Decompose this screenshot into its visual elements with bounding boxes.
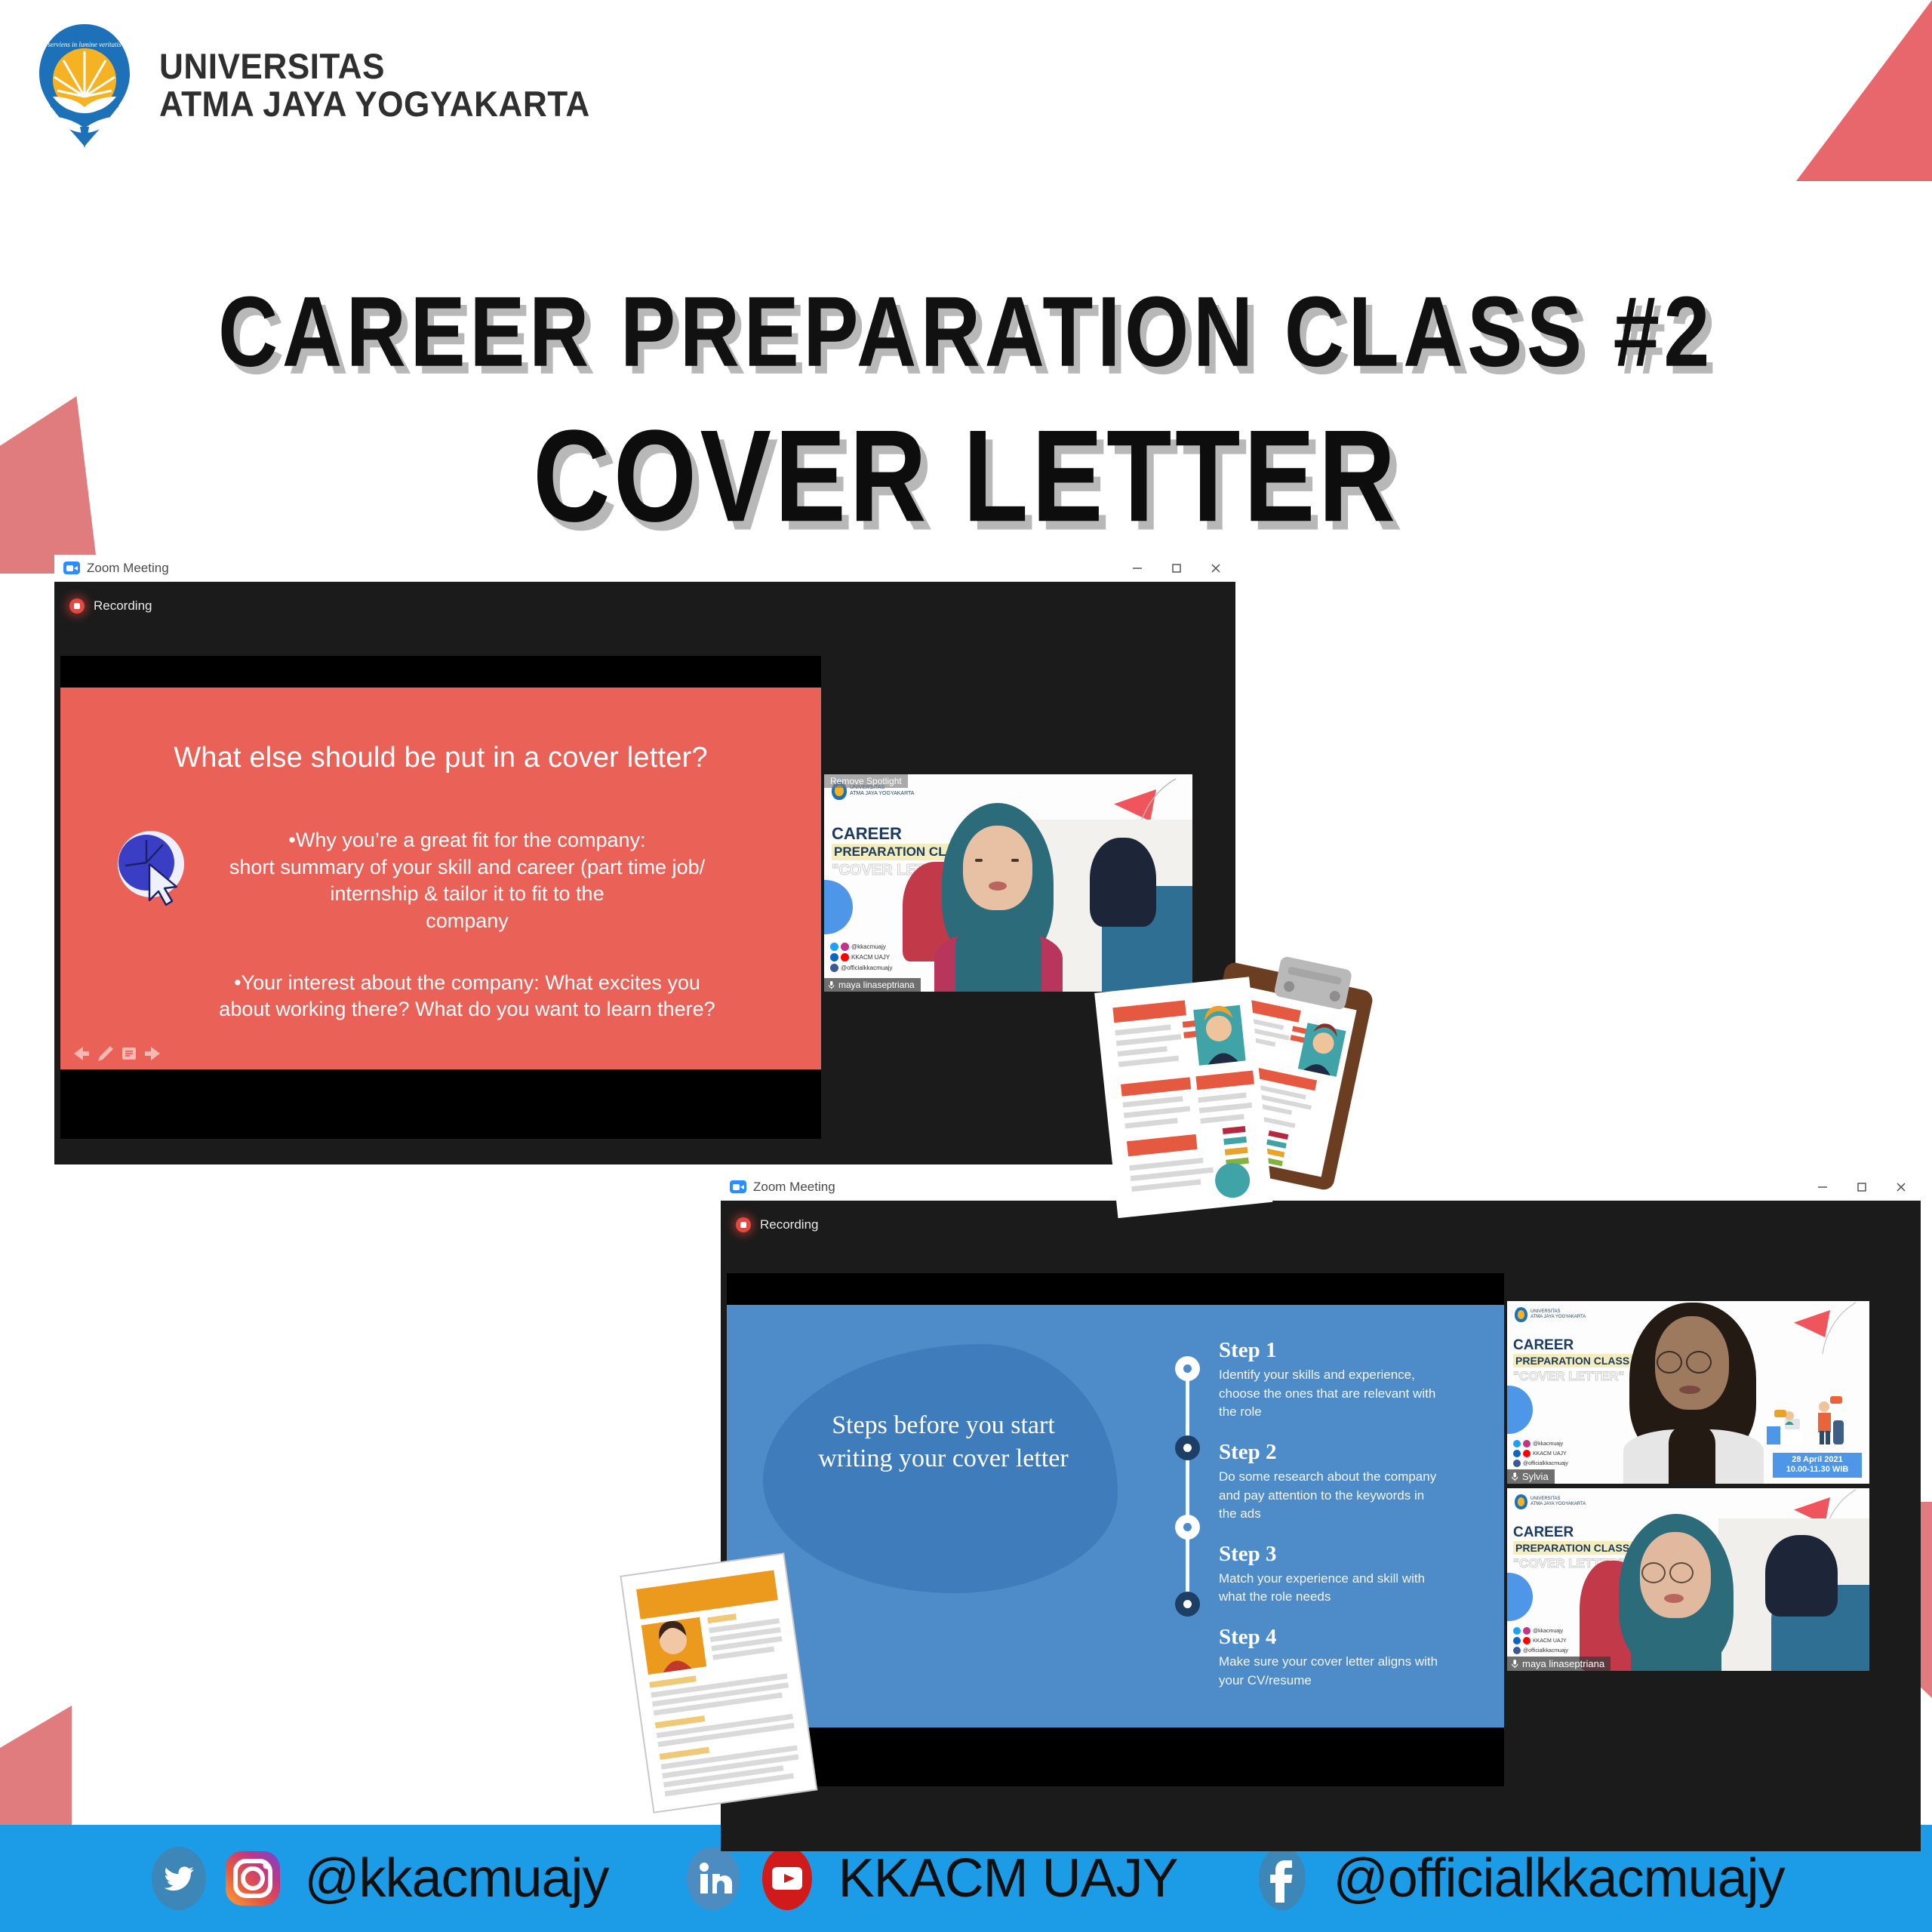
slide-bullet-1: •Why you’re a great fit for the company:…: [143, 827, 791, 935]
close-button[interactable]: [1881, 1174, 1921, 1200]
twitter-icon[interactable]: [147, 1847, 211, 1910]
vbg-org-line2: ATMA JAYA YOGYAKARTA: [850, 791, 914, 797]
list-item: Step 3 Match your experience and skill w…: [1219, 1542, 1445, 1607]
step-description: Do some research about the company and p…: [1219, 1468, 1445, 1524]
participant-name-chip: Sylvia: [1507, 1469, 1555, 1484]
timeline-node-1: [1175, 1356, 1200, 1381]
participant-tile-sylvia[interactable]: UNIVERSITAS ATMA JAYA YOGYAKARTA CAREER …: [1507, 1301, 1869, 1484]
resume-document-icon: [615, 1551, 857, 1830]
remove-spotlight-label: Remove Spotlight: [830, 776, 902, 786]
close-button[interactable]: [1196, 555, 1235, 581]
vbg-handle-1: @kkacmuajy: [1533, 1441, 1563, 1447]
youtube-icon[interactable]: [755, 1847, 819, 1910]
vbg-career-text: CAREER: [1513, 1524, 1574, 1541]
zoom-window-1[interactable]: Zoom Meeting Recording What else should …: [54, 555, 1235, 1164]
footer-handle-facebook: @officialkkacmuajy: [1334, 1847, 1785, 1909]
linkedin-icon[interactable]: [681, 1847, 745, 1910]
pen-annotate-icon[interactable]: [95, 1044, 115, 1063]
slide-heading: Steps before you start writing your cove…: [796, 1409, 1091, 1475]
step-description: Match your experience and skill with wha…: [1219, 1570, 1445, 1607]
vbg-handle-2: KKACM UAJY: [1533, 1638, 1567, 1644]
instagram-icon[interactable]: [221, 1847, 285, 1910]
facebook-icon[interactable]: [1251, 1847, 1314, 1910]
footer-group-facebook: @officialkkacmuajy: [1251, 1847, 1785, 1910]
steps-list: Step 1 Identify your skills and experien…: [1219, 1338, 1445, 1708]
window-title: Zoom Meeting: [87, 561, 169, 576]
atma-jaya-crest-icon: serviens in lumine veritatis: [30, 21, 140, 149]
brand-line-2: ATMA JAYA YOGYAKARTA: [159, 85, 590, 123]
timeline-node-3: [1175, 1515, 1200, 1540]
vbg-org-logo: UNIVERSITAS ATMA JAYA YOGYAKARTA: [1515, 1494, 1586, 1509]
vbg-org-line2: ATMA JAYA YOGYAKARTA: [1531, 1502, 1586, 1507]
zoom-camera-icon: [63, 561, 80, 574]
presentation-slide-coral: What else should be put in a cover lette…: [60, 688, 821, 1069]
minimize-button[interactable]: [1803, 1174, 1842, 1200]
vbg-org-line2: ATMA JAYA YOGYAKARTA: [1531, 1315, 1586, 1320]
steps-timeline: [1172, 1343, 1202, 1644]
clipboard-resumes-icon: [1087, 943, 1389, 1238]
titlebar-window-1: Zoom Meeting: [54, 555, 1235, 582]
vbg-circle-decor: [824, 880, 853, 934]
footer-group-instagram: @kkacmuajy: [147, 1847, 608, 1910]
participant-name-chip: maya linaseptriana: [824, 978, 921, 992]
minimize-button[interactable]: [1118, 555, 1157, 581]
slide-title: What else should be put in a cover lette…: [60, 742, 821, 774]
step-title: Step 4: [1219, 1625, 1445, 1650]
remove-spotlight-chip[interactable]: Remove Spotlight: [824, 774, 908, 788]
participant-video-person: [1622, 1301, 1765, 1484]
shared-screen-frame-1: What else should be put in a cover lette…: [60, 656, 821, 1139]
microphone-icon: [1511, 1659, 1518, 1669]
prev-slide-arrow-icon[interactable]: [71, 1044, 91, 1063]
maximize-button[interactable]: [1842, 1174, 1881, 1200]
vbg-handle-1: @kkacmuajy: [851, 943, 886, 950]
vbg-date-badge: 28 April 2021 10.00-11.30 WIB: [1773, 1453, 1862, 1478]
page-title: CAREER PREPARATION CLASS #2 COVER LETTER: [0, 281, 1932, 543]
zoom-content-window-1: Recording What else should be put in a c…: [54, 582, 1235, 1164]
notes-icon[interactable]: [119, 1044, 139, 1063]
microphone-icon: [828, 980, 835, 989]
recording-label: Recording: [760, 1217, 819, 1232]
headline-secondary: COVER LETTER: [68, 401, 1865, 552]
participant-tile-maya-2[interactable]: UNIVERSITAS ATMA JAYA YOGYAKARTA CAREER …: [1507, 1488, 1869, 1671]
participant-name: maya linaseptriana: [838, 980, 915, 990]
timeline-node-4: [1175, 1592, 1200, 1617]
vbg-career-text: CAREER: [832, 824, 902, 844]
vbg-date-text: 28 April 2021: [1774, 1455, 1860, 1466]
window-title: Zoom Meeting: [753, 1180, 835, 1195]
corner-triangle-top-right: [1796, 0, 1932, 181]
brand-header: serviens in lumine veritatis UNIVERSITAS…: [30, 21, 617, 149]
list-item: Step 2 Do some research about the compan…: [1219, 1440, 1445, 1524]
vbg-socials: @kkacmuajy KKACM UAJY @officialkkacmuajy: [1513, 1440, 1568, 1467]
vbg-socials: @kkacmuajy KKACM UAJY @officialkkacmuajy: [830, 943, 892, 972]
vbg-handle-1: @kkacmuajy: [1533, 1629, 1563, 1634]
step-description: Identify your skills and experience, cho…: [1219, 1366, 1445, 1422]
vbg-handle-3: @officialkkacmuajy: [841, 964, 892, 971]
microphone-icon: [1511, 1472, 1518, 1481]
couch-cushion-dark: [1765, 1535, 1838, 1617]
record-dot-icon: [736, 1217, 751, 1232]
step-title: Step 2: [1219, 1440, 1445, 1465]
list-item: Step 4 Make sure your cover letter align…: [1219, 1625, 1445, 1690]
participant-video-person: [1605, 1514, 1756, 1671]
participant-name: Sylvia: [1522, 1471, 1549, 1482]
next-slide-arrow-icon[interactable]: [143, 1044, 163, 1063]
vbg-cover-text: "COVER LETTER": [1513, 1369, 1624, 1384]
headline-primary: CAREER PREPARATION CLASS #2: [68, 275, 1865, 389]
couch-cushion-dark: [1090, 838, 1156, 927]
zoom-content-window-2: Recording Steps before you start writing…: [721, 1201, 1921, 1851]
participant-video-person: [930, 803, 1073, 992]
vbg-handle-3: @officialkkacmuajy: [1523, 1648, 1568, 1654]
vbg-org-line1: UNIVERSITAS: [1531, 1497, 1586, 1502]
vbg-circle-decor: [1507, 1573, 1533, 1621]
vbg-illustration: [1755, 1387, 1848, 1444]
participant-name: maya linaseptriana: [1522, 1658, 1604, 1669]
zoom-window-2[interactable]: Zoom Meeting Recording Steps before you …: [721, 1174, 1921, 1851]
step-title: Step 1: [1219, 1338, 1445, 1363]
vbg-org-line1: UNIVERSITAS: [1531, 1309, 1586, 1315]
svg-text:serviens in lumine veritatis: serviens in lumine veritatis: [48, 41, 122, 48]
vbg-circle-decor: [1507, 1386, 1533, 1434]
vbg-time-text: 10.00-11.30 WIB: [1774, 1465, 1860, 1475]
vbg-handle-2: KKACM UAJY: [851, 954, 890, 961]
step-title: Step 3: [1219, 1542, 1445, 1567]
vbg-handle-3: @officialkkacmuajy: [1523, 1461, 1568, 1466]
vbg-handle-2: KKACM UAJY: [1533, 1451, 1567, 1457]
corner-triangle-left-lower: [0, 1706, 72, 1838]
zoom-camera-icon: [730, 1180, 746, 1193]
slideshow-toolbar[interactable]: [71, 1044, 163, 1063]
step-description: Make sure your cover letter aligns with …: [1219, 1653, 1445, 1690]
footer-handle-instagram: @kkacmuajy: [304, 1847, 608, 1909]
brand-line-1: UNIVERSITAS: [159, 48, 590, 85]
list-item: Step 1 Identify your skills and experien…: [1219, 1338, 1445, 1422]
slide-body: •Why you’re a great fit for the company:…: [143, 827, 791, 1058]
timeline-rail: [1186, 1356, 1189, 1601]
recording-indicator-2: Recording: [736, 1217, 819, 1232]
vbg-org-logo: UNIVERSITAS ATMA JAYA YOGYAKARTA: [1515, 1307, 1586, 1322]
timeline-node-2: [1175, 1435, 1200, 1460]
recording-label: Recording: [94, 598, 152, 614]
maximize-button[interactable]: [1157, 555, 1196, 581]
participant-name-chip: maya linaseptriana: [1507, 1657, 1611, 1671]
footer-group-youtube: KKACM UAJY: [681, 1847, 1178, 1910]
slide-bullet-2: •Your interest about the company: What e…: [143, 970, 791, 1023]
footer-handle-youtube: KKACM UAJY: [838, 1847, 1178, 1909]
recording-indicator-1: Recording: [69, 598, 152, 614]
vbg-socials: @kkacmuajy KKACM UAJY @officialkkacmuajy: [1513, 1627, 1568, 1654]
record-dot-icon: [69, 598, 85, 614]
vbg-career-text: CAREER: [1513, 1337, 1574, 1354]
